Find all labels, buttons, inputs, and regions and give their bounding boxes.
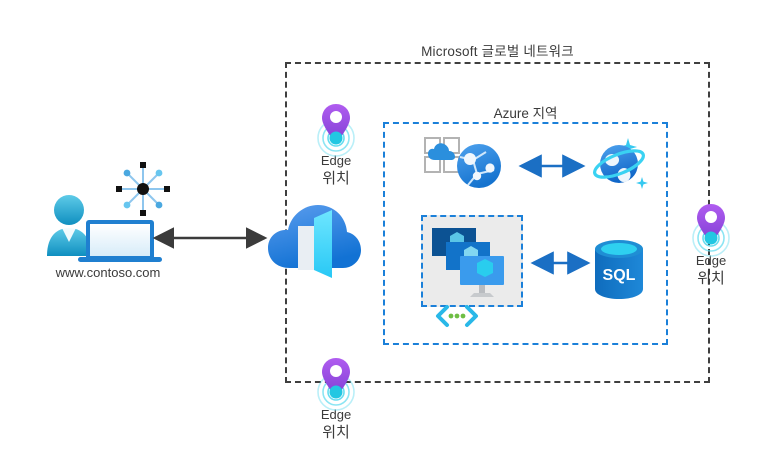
code-brackets-icon bbox=[434, 303, 480, 329]
connector-client-to-front-door bbox=[145, 226, 275, 250]
edge-pin-icon bbox=[288, 350, 384, 406]
edge-location-label-line2: 위치 bbox=[288, 423, 384, 443]
edge-location-label-line1: Edge bbox=[288, 152, 384, 169]
connector-cdn-to-cosmos bbox=[512, 155, 592, 177]
client-user-group: www.contoso.com bbox=[28, 158, 188, 280]
virtual-machines-icon bbox=[432, 226, 514, 302]
edge-pin-icon bbox=[288, 96, 384, 152]
microsoft-global-network-title: Microsoft 글로벌 네트워크 bbox=[285, 40, 710, 60]
client-url-label: www.contoso.com bbox=[28, 265, 188, 280]
edge-location-label-line1: Edge bbox=[288, 406, 384, 423]
edge-pin-icon bbox=[663, 196, 759, 252]
edge-location-label-line2: 위치 bbox=[663, 269, 759, 289]
edge-location-bottom: Edge 위치 bbox=[288, 350, 384, 443]
sql-database-icon: SQL bbox=[592, 238, 648, 300]
sql-database-label: SQL bbox=[603, 267, 636, 284]
edge-location-right: Edge 위치 bbox=[663, 196, 759, 289]
edge-location-label-line2: 위치 bbox=[288, 169, 384, 189]
user-avatar-icon bbox=[47, 195, 91, 256]
cosmos-db-planet-icon bbox=[588, 136, 648, 194]
cdn-endpoint-globe-icon bbox=[456, 143, 502, 189]
hub-spoke-network-icon bbox=[116, 162, 170, 216]
connector-vms-to-sql bbox=[526, 252, 596, 274]
edge-location-label-line1: Edge bbox=[663, 252, 759, 269]
azure-front-door-icon bbox=[266, 196, 362, 282]
diagram-canvas: Microsoft 글로벌 네트워크 Azure 지역 bbox=[0, 0, 769, 457]
edge-location-top-left: Edge 위치 bbox=[288, 96, 384, 189]
azure-region-title: Azure 지역 bbox=[383, 102, 668, 122]
